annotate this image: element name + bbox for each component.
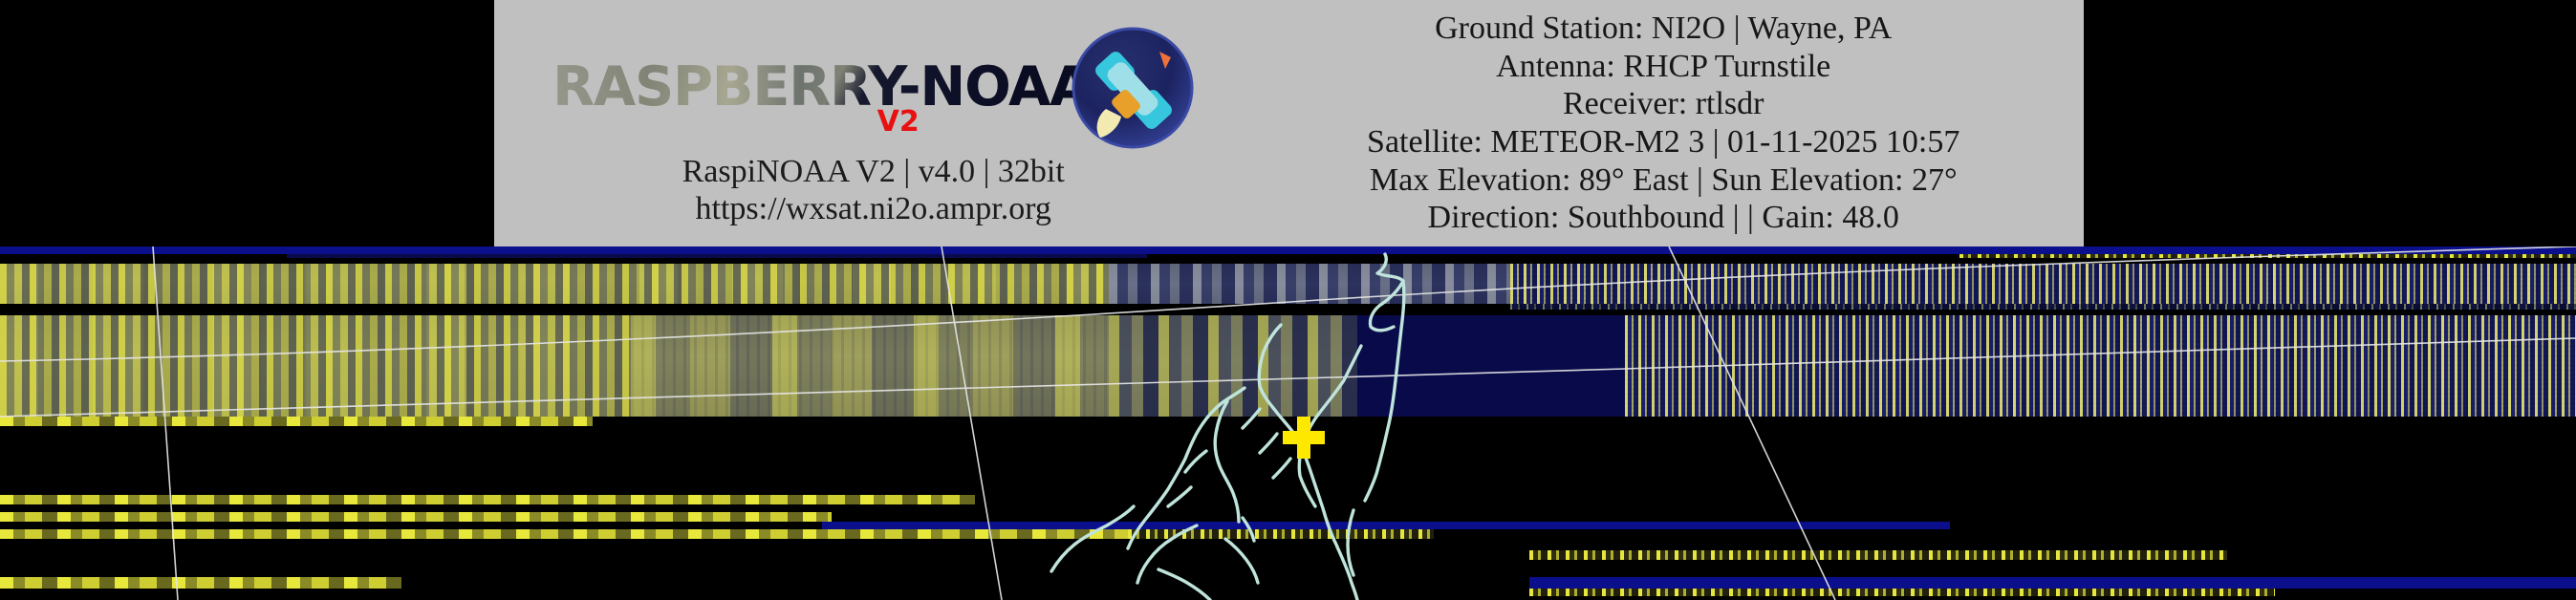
pass-info-block: Ground Station: NI2O | Wayne, PA Antenna… <box>1252 0 2084 246</box>
scan-band <box>1128 529 1434 539</box>
scan-band <box>0 577 401 589</box>
scan-band <box>0 246 2576 254</box>
scan-band <box>822 522 1950 529</box>
pass-image-canvas: RASPBERRY-NOAA V2 <box>0 0 2576 600</box>
satellite-roundel-icon <box>1072 27 1194 149</box>
scan-band <box>0 426 2576 495</box>
scan-band <box>1625 315 2576 417</box>
info-elevation: Max Elevation: 89° East | Sun Elevation:… <box>1370 161 1958 200</box>
info-ground-station: Ground Station: NI2O | Wayne, PA <box>1435 10 1892 48</box>
brand-block: RASPBERRY-NOAA V2 <box>494 0 1252 246</box>
version-badge: V2 <box>877 105 920 139</box>
scan-band <box>1510 304 2576 310</box>
scan-band <box>1357 315 1625 417</box>
brand-url-line[interactable]: https://wxsat.ni2o.ampr.org <box>696 190 1051 227</box>
scan-band <box>0 264 1109 304</box>
scan-band <box>0 512 832 522</box>
scan-band <box>1529 589 2275 596</box>
raspberry-noaa-wordmark: RASPBERRY-NOAA <box>552 60 1091 115</box>
scan-band <box>975 495 2576 504</box>
brand-version-line: RaspiNOAA V2 | v4.0 | 32bit <box>682 153 1065 190</box>
scan-band <box>0 529 1128 539</box>
scan-band <box>1109 315 1357 417</box>
logo-row: RASPBERRY-NOAA V2 <box>494 23 1252 153</box>
pass-info-header: RASPBERRY-NOAA V2 <box>494 0 2084 246</box>
scan-band <box>593 417 2576 426</box>
scan-band <box>0 417 593 426</box>
satellite-pass-image <box>0 246 2576 600</box>
scan-band <box>0 495 975 504</box>
scan-band <box>1529 550 2227 560</box>
scan-band <box>631 315 1109 417</box>
info-satellite: Satellite: METEOR-M2 3 | 01-11-2025 10:5… <box>1367 123 1959 161</box>
scan-band <box>0 315 631 417</box>
scan-band <box>1529 577 2576 589</box>
scan-band <box>1109 264 1510 304</box>
info-receiver: Receiver: rtlsdr <box>1563 85 1764 123</box>
scan-band <box>1510 264 2576 304</box>
info-direction-gain: Direction: Southbound | | Gain: 48.0 <box>1428 199 1899 237</box>
info-antenna: Antenna: RHCP Turnstile <box>1496 48 1830 86</box>
